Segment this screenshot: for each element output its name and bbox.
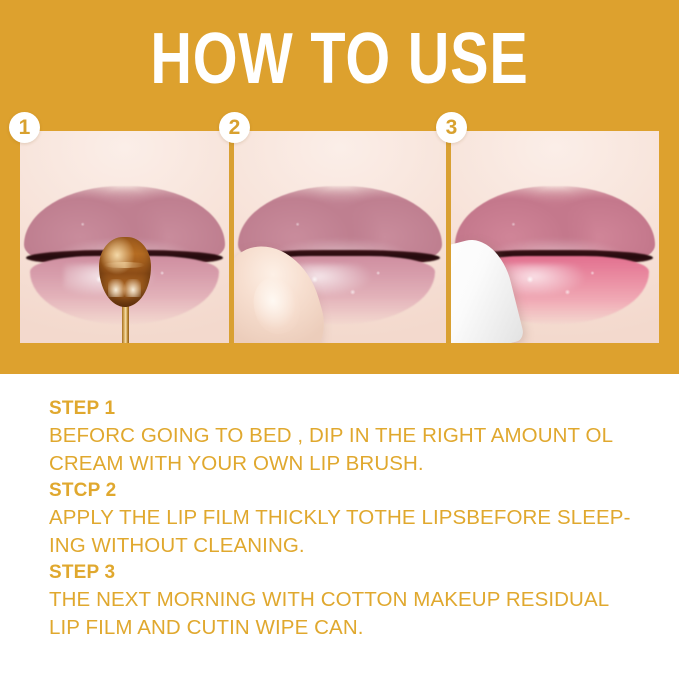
step-3-heading: STEP 3 — [49, 560, 649, 586]
step-1-body: BEFORC GOING TO BED , DIP IN THE RIGHT A… — [49, 422, 649, 478]
step-photo-2 — [234, 131, 446, 343]
step-photo-3 — [451, 131, 659, 343]
step-badge-2: 2 — [219, 112, 250, 143]
photo-strip — [20, 131, 659, 343]
step-badge-1: 1 — [9, 112, 40, 143]
step-photo-1 — [20, 131, 229, 343]
step-3-body: THE NEXT MORNING WITH COTTON MAKEUP RESI… — [49, 586, 649, 642]
page-title: HOW TO USE — [68, 20, 611, 98]
step-badge-3: 3 — [436, 112, 467, 143]
step-2-body: APPLY THE LIP FILM THICKLY TOTHE LIPSBEF… — [49, 504, 649, 560]
how-to-use-infographic: HOW TO USE 1 2 3 — [0, 0, 679, 679]
step-2-heading: STCP 2 — [49, 478, 649, 504]
step-1-heading: STEP 1 — [49, 396, 649, 422]
instructions-list: STEP 1 BEFORC GOING TO BED , DIP IN THE … — [49, 396, 649, 642]
